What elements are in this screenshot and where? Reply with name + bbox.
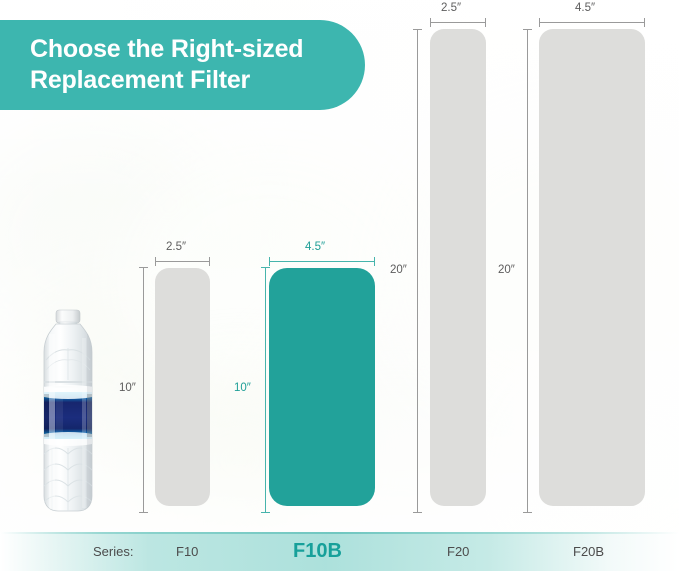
dimension-bar (143, 267, 144, 513)
water-bottle-icon (34, 308, 102, 513)
dimension-bar (269, 261, 375, 262)
dimension-cap-top (523, 29, 532, 30)
dimension-label-width-f10: 2.5″ (166, 241, 186, 253)
header-title-line-1: Choose the Right-sized (30, 34, 365, 65)
dimension-line-horizontal-f10b (269, 257, 375, 266)
dimension-cap-bottom (523, 512, 532, 513)
filter-body (155, 268, 210, 506)
dimension-line-vertical-f20b (523, 29, 532, 513)
filter-cartridge-f10b[interactable] (269, 268, 375, 506)
dimension-bar (265, 267, 266, 513)
series-prefix-label: Series: (93, 532, 133, 571)
dimension-bar (430, 22, 486, 23)
dimension-bar (539, 22, 645, 23)
dimension-bar (527, 29, 528, 513)
filter-cartridge-f20[interactable] (430, 29, 486, 506)
dimension-bar (417, 29, 418, 513)
filter-cartridge-f10[interactable] (155, 268, 210, 506)
series-item-f20[interactable]: F20 (447, 532, 469, 571)
dimension-label-height-f20b: 20″ (498, 264, 515, 276)
dimension-cap-bottom (261, 512, 270, 513)
dimension-label-height-f10b: 10″ (234, 382, 251, 394)
dimension-label-width-f20: 2.5″ (441, 2, 461, 14)
filter-body (539, 29, 645, 506)
header-title-line-2: Replacement Filter (30, 65, 365, 96)
dimension-label-width-f10b: 4.5″ (305, 241, 325, 253)
filter-body (269, 268, 375, 506)
dimension-line-vertical-f20 (413, 29, 422, 513)
filter-cartridge-f20b[interactable] (539, 29, 645, 506)
series-item-f20b[interactable]: F20B (573, 532, 604, 571)
dimension-cap-left (269, 257, 270, 266)
dimension-line-horizontal-f20b (539, 18, 645, 27)
dimension-bar (155, 261, 210, 262)
filter-body (430, 29, 486, 506)
dimension-cap-right (209, 257, 210, 266)
dimension-cap-left (430, 18, 431, 27)
dimension-cap-right (374, 257, 375, 266)
dimension-line-horizontal-f20 (430, 18, 486, 27)
dimension-cap-left (539, 18, 540, 27)
dimension-label-height-f10: 10″ (119, 382, 136, 394)
dimension-cap-bottom (139, 512, 148, 513)
dimension-label-height-f20: 20″ (390, 264, 407, 276)
infographic-canvas: Choose the Right-sized Replacement Filte… (0, 0, 679, 571)
dimension-cap-right (644, 18, 645, 27)
dimension-line-horizontal-f10 (155, 257, 210, 266)
dimension-cap-left (155, 257, 156, 266)
series-item-f10b[interactable]: F10B (293, 532, 342, 571)
dimension-cap-bottom (413, 512, 422, 513)
dimension-cap-right (485, 18, 486, 27)
dimension-label-width-f20b: 4.5″ (575, 2, 595, 14)
dimension-line-vertical-f10 (139, 267, 148, 513)
header-banner: Choose the Right-sized Replacement Filte… (0, 20, 365, 110)
series-item-f10[interactable]: F10 (176, 532, 198, 571)
dimension-cap-top (413, 29, 422, 30)
series-row: Series: F10 F10B F20 F20B (0, 532, 679, 571)
dimension-cap-top (139, 267, 148, 268)
